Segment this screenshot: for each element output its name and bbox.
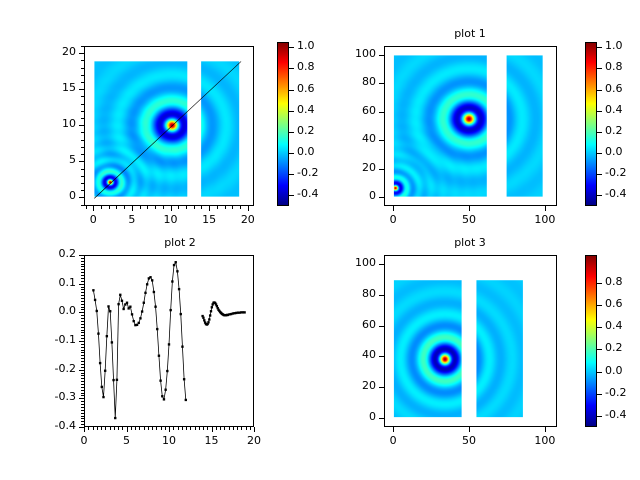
data-point-marker <box>176 270 178 272</box>
colorbar-tick <box>597 195 602 196</box>
data-point-marker <box>154 306 156 308</box>
x-tick-label: 20 <box>223 213 273 226</box>
x-tick-minor <box>229 427 230 430</box>
x-tick-minor <box>169 427 170 430</box>
y-tick-minor <box>81 89 84 90</box>
colorbar-tick <box>597 47 602 48</box>
x-tick-major <box>393 427 394 432</box>
x-tick-label: 0 <box>368 213 418 226</box>
x-tick-minor <box>131 427 132 430</box>
x-tick-minor <box>144 427 145 430</box>
y-tick-major <box>379 356 384 357</box>
y-tick-minor <box>81 352 84 353</box>
x-tick-minor <box>152 427 153 430</box>
y-tick-label: 0 <box>324 189 376 202</box>
y-tick-minor <box>81 344 84 345</box>
x-tick-minor <box>195 427 196 430</box>
y-tick-minor <box>81 384 84 385</box>
data-point-marker <box>102 396 104 398</box>
x-tick-label: 50 <box>444 213 494 226</box>
x-tick-minor <box>190 427 191 430</box>
y-tick-minor <box>81 393 84 394</box>
data-point-marker <box>92 289 94 291</box>
colorbar-bottom-right <box>585 255 597 427</box>
x-tick-minor <box>93 206 94 209</box>
data-point-marker <box>96 310 98 312</box>
data-point-marker <box>112 379 114 381</box>
y-tick-minor <box>81 358 84 359</box>
colorbar-tick <box>597 111 602 112</box>
x-tick-label: 20 <box>229 434 279 447</box>
colorbar-tick <box>289 90 294 91</box>
y-tick-minor <box>81 332 84 333</box>
y-tick-minor <box>81 281 84 282</box>
data-point-marker <box>185 399 187 401</box>
x-tick-minor <box>248 206 249 209</box>
y-tick-minor <box>81 298 84 299</box>
data-point-marker <box>131 313 133 315</box>
y-tick-label: 80 <box>324 287 376 300</box>
x-tick-minor <box>209 206 210 209</box>
line-path <box>93 262 185 418</box>
colorbar-tick-label: 0.8 <box>605 60 623 73</box>
colorbar-tick <box>289 153 294 154</box>
x-tick-label: 0 <box>368 434 418 447</box>
line-series-plot <box>85 256 253 426</box>
y-tick-minor <box>81 350 84 351</box>
y-tick-minor <box>81 304 84 305</box>
y-tick-major <box>379 295 384 296</box>
y-tick-minor <box>81 364 84 365</box>
y-tick-minor <box>81 361 84 362</box>
x-tick-minor <box>250 427 251 430</box>
colorbar-tick-label: -0.4 <box>605 187 626 200</box>
y-tick-minor <box>81 401 84 402</box>
x-tick-minor <box>207 427 208 430</box>
y-tick-minor <box>81 132 84 133</box>
x-tick-minor <box>101 206 102 209</box>
y-tick-label: 0.1 <box>24 276 76 289</box>
data-point-marker <box>122 308 124 310</box>
x-tick-minor <box>224 427 225 430</box>
data-point-marker <box>181 345 183 347</box>
y-tick-minor <box>81 312 84 313</box>
y-tick-minor <box>81 370 84 371</box>
y-tick-label: 60 <box>324 104 376 117</box>
y-tick-minor <box>81 324 84 325</box>
colorbar-tick-label: -0.2 <box>605 386 626 399</box>
x-tick-minor <box>116 206 117 209</box>
y-tick-minor <box>81 410 84 411</box>
data-point-marker <box>111 341 113 343</box>
y-tick-minor <box>81 272 84 273</box>
y-tick-minor <box>81 416 84 417</box>
y-tick-minor <box>81 60 84 61</box>
x-tick-minor <box>217 206 218 209</box>
data-point-marker <box>141 310 143 312</box>
heatmap-image <box>85 47 253 205</box>
y-tick-minor <box>81 318 84 319</box>
x-tick-major <box>545 206 546 211</box>
y-tick-minor <box>81 264 84 265</box>
data-point-marker <box>207 321 209 323</box>
x-tick-minor <box>124 206 125 209</box>
data-point-marker <box>168 343 170 345</box>
y-tick-major <box>379 264 384 265</box>
y-tick-minor <box>81 96 84 97</box>
y-tick-minor <box>81 355 84 356</box>
x-tick-minor <box>203 427 204 430</box>
y-tick-label: 100 <box>324 256 376 269</box>
y-tick-label: -0.3 <box>24 390 76 403</box>
colorbar-tick-label: 0.0 <box>297 145 315 158</box>
data-point-marker <box>156 328 158 330</box>
colorbar-tick <box>597 153 602 154</box>
y-tick-minor <box>81 307 84 308</box>
y-tick-minor <box>81 261 84 262</box>
y-tick-minor <box>81 183 84 184</box>
y-tick-minor <box>81 378 84 379</box>
x-tick-minor <box>122 427 123 430</box>
subplot-top-right-title: plot 1 <box>370 27 570 40</box>
colorbar-tick-label: -0.4 <box>605 408 626 421</box>
data-point-marker <box>94 299 96 301</box>
x-tick-minor <box>86 206 87 209</box>
x-tick-minor <box>163 206 164 209</box>
x-tick-minor <box>173 427 174 430</box>
y-tick-minor <box>81 289 84 290</box>
y-tick-minor <box>81 111 84 112</box>
y-tick-major <box>379 140 384 141</box>
colorbar-tick <box>597 90 602 91</box>
y-tick-label: 0.0 <box>24 304 76 317</box>
x-tick-minor <box>186 206 187 209</box>
y-tick-minor <box>81 118 84 119</box>
y-tick-minor <box>81 275 84 276</box>
colorbar-tick-label: 0.0 <box>605 145 623 158</box>
x-tick-minor <box>237 427 238 430</box>
y-tick-minor <box>81 398 84 399</box>
data-point-marker <box>104 370 106 372</box>
data-point-marker <box>117 303 119 305</box>
colorbar-tick-label: 0.6 <box>605 297 623 310</box>
x-tick-minor <box>147 206 148 209</box>
y-tick-minor <box>81 269 84 270</box>
x-tick-minor <box>88 427 89 430</box>
data-point-marker <box>243 311 245 313</box>
x-tick-minor <box>220 427 221 430</box>
y-tick-minor <box>81 367 84 368</box>
data-point-marker <box>203 319 205 321</box>
y-tick-label: 15 <box>24 81 76 94</box>
heatmap-image <box>385 47 556 205</box>
data-point-marker <box>183 378 185 380</box>
y-tick-minor <box>81 338 84 339</box>
y-tick-minor <box>81 381 84 382</box>
x-tick-minor <box>178 206 179 209</box>
data-point-marker <box>208 318 210 320</box>
colorbar-tick <box>597 132 602 133</box>
x-tick-minor <box>139 427 140 430</box>
colorbar-tick-label: -0.2 <box>297 166 318 179</box>
y-tick-minor <box>81 53 84 54</box>
data-point-marker <box>97 332 99 334</box>
data-point-marker <box>163 398 165 400</box>
colorbar-tick-label: 0.2 <box>297 124 315 137</box>
colorbar-tick-label: 0.4 <box>605 103 623 116</box>
data-point-marker <box>210 310 212 312</box>
y-tick-major <box>379 197 384 198</box>
data-point-marker <box>153 291 155 293</box>
colorbar-tick <box>289 111 294 112</box>
data-point-marker <box>143 302 145 304</box>
x-tick-minor <box>97 427 98 430</box>
data-point-marker <box>138 322 140 324</box>
x-tick-minor <box>127 427 128 430</box>
data-point-marker <box>121 300 123 302</box>
x-tick-minor <box>246 427 247 430</box>
y-tick-label: 0 <box>24 189 76 202</box>
y-tick-minor <box>81 295 84 296</box>
y-tick-minor <box>81 309 84 310</box>
data-point-marker <box>101 386 103 388</box>
colorbar-tick-label: -0.4 <box>297 187 318 200</box>
y-tick-minor <box>81 424 84 425</box>
subplot-bottom-right: plot 3 020406080100050100 0.80.60.40.20.… <box>320 240 640 480</box>
x-tick-minor <box>225 206 226 209</box>
data-point-marker <box>169 309 171 311</box>
x-tick-minor <box>182 427 183 430</box>
y-tick-minor <box>81 82 84 83</box>
data-point-marker <box>178 288 180 290</box>
colorbar-tick-label: 0.8 <box>297 60 315 73</box>
x-tick-minor <box>240 206 241 209</box>
subplot-bottom-right-axes <box>384 255 557 427</box>
data-point-marker <box>106 335 108 337</box>
x-tick-minor <box>171 206 172 209</box>
y-tick-minor <box>81 190 84 191</box>
x-tick-minor <box>241 427 242 430</box>
subplot-top-right-axes <box>384 46 557 206</box>
data-point-marker <box>209 314 211 316</box>
y-tick-major <box>379 387 384 388</box>
x-tick-minor <box>110 427 111 430</box>
x-tick-minor <box>165 427 166 430</box>
y-tick-minor <box>81 335 84 336</box>
data-point-marker <box>139 317 141 319</box>
colorbar-tick-label: 0.4 <box>605 319 623 332</box>
data-point-marker <box>164 389 166 391</box>
colorbar-top-right <box>585 42 597 206</box>
data-point-marker <box>144 292 146 294</box>
y-tick-minor <box>81 375 84 376</box>
x-tick-minor <box>155 206 156 209</box>
x-tick-minor <box>135 427 136 430</box>
data-point-marker <box>126 302 128 304</box>
y-tick-minor <box>81 197 84 198</box>
x-tick-minor <box>212 427 213 430</box>
y-tick-minor <box>81 413 84 414</box>
x-tick-minor <box>114 427 115 430</box>
x-tick-minor <box>101 427 102 430</box>
y-tick-minor <box>81 176 84 177</box>
x-tick-label: 50 <box>444 434 494 447</box>
y-tick-major <box>379 418 384 419</box>
x-tick-minor <box>84 427 85 430</box>
data-point-marker <box>133 320 135 322</box>
colorbar-top-left <box>277 42 289 206</box>
data-point-marker <box>180 313 182 315</box>
y-tick-label: 60 <box>324 318 376 331</box>
data-point-marker <box>129 306 131 308</box>
figure-canvas: 0510152005101520 1.00.80.60.40.20.0-0.2-… <box>0 0 640 480</box>
data-point-marker <box>119 294 121 296</box>
y-tick-label: 20 <box>324 379 376 392</box>
colorbar-tick-label: 0.4 <box>297 103 315 116</box>
y-tick-minor <box>81 68 84 69</box>
colorbar-tick <box>289 68 294 69</box>
x-tick-minor <box>186 427 187 430</box>
colorbar-tick <box>597 394 602 395</box>
x-tick-minor <box>232 206 233 209</box>
x-tick-major <box>545 427 546 432</box>
colorbar-tick <box>597 283 602 284</box>
y-tick-minor <box>81 387 84 388</box>
data-point-marker <box>99 362 101 364</box>
y-tick-label: -0.2 <box>24 362 76 375</box>
colorbar-tick-label: 1.0 <box>297 39 315 52</box>
x-tick-minor <box>118 427 119 430</box>
colorbar-tick-label: 0.8 <box>605 275 623 288</box>
y-tick-minor <box>81 75 84 76</box>
subplot-top-right: plot 1 020406080100050100 1.00.80.60.40.… <box>320 0 640 240</box>
y-tick-minor <box>81 390 84 391</box>
x-tick-minor <box>109 206 110 209</box>
y-tick-minor <box>81 421 84 422</box>
y-tick-minor <box>81 147 84 148</box>
colorbar-tick-label: 0.2 <box>605 341 623 354</box>
y-tick-minor <box>81 258 84 259</box>
y-tick-minor <box>81 284 84 285</box>
y-tick-label: -0.1 <box>24 333 76 346</box>
data-point-marker <box>202 317 204 319</box>
colorbar-tick <box>597 372 602 373</box>
colorbar-tick <box>289 174 294 175</box>
x-tick-minor <box>140 206 141 209</box>
colorbar-tick <box>597 174 602 175</box>
y-tick-minor <box>81 341 84 342</box>
data-point-marker <box>151 279 153 281</box>
colorbar-tick <box>289 195 294 196</box>
colorbar-tick <box>597 68 602 69</box>
x-tick-minor <box>148 427 149 430</box>
y-tick-minor <box>81 255 84 256</box>
x-tick-minor <box>93 427 94 430</box>
y-tick-major <box>379 55 384 56</box>
x-tick-minor <box>161 427 162 430</box>
y-tick-major <box>379 326 384 327</box>
y-tick-minor <box>81 407 84 408</box>
colorbar-tick-label: 1.0 <box>605 39 623 52</box>
y-tick-label: 20 <box>24 45 76 58</box>
y-tick-minor <box>81 278 84 279</box>
data-point-marker <box>159 379 161 381</box>
y-tick-minor <box>81 327 84 328</box>
x-tick-minor <box>194 206 195 209</box>
data-point-marker <box>171 280 173 282</box>
x-tick-major <box>469 427 470 432</box>
data-point-marker <box>173 264 175 266</box>
y-tick-minor <box>81 315 84 316</box>
colorbar-tick-label: 0.0 <box>605 364 623 377</box>
y-tick-minor <box>81 321 84 322</box>
y-tick-major <box>379 169 384 170</box>
y-tick-minor <box>81 266 84 267</box>
y-tick-label: 80 <box>324 75 376 88</box>
colorbar-tick-label: -0.2 <box>605 166 626 179</box>
y-tick-label: 0 <box>324 410 376 423</box>
x-tick-minor <box>254 427 255 430</box>
data-point-marker <box>109 310 111 312</box>
y-tick-label: 5 <box>24 153 76 166</box>
y-tick-label: 20 <box>324 161 376 174</box>
y-tick-minor <box>81 418 84 419</box>
y-tick-major <box>379 83 384 84</box>
x-tick-minor <box>216 427 217 430</box>
x-tick-minor <box>233 427 234 430</box>
subplot-top-left-axes <box>84 46 254 206</box>
y-tick-label: 0.2 <box>24 247 76 260</box>
subplot-bottom-left-axes <box>84 255 254 427</box>
y-tick-minor <box>81 287 84 288</box>
subplot-top-left: 0510152005101520 1.00.80.60.40.20.0-0.2-… <box>0 0 320 240</box>
data-point-marker <box>114 417 116 419</box>
data-point-marker <box>116 379 118 381</box>
data-point-marker <box>161 395 163 397</box>
colorbar-tick <box>597 416 602 417</box>
y-tick-label: 40 <box>324 132 376 145</box>
data-point-marker <box>107 305 109 307</box>
y-tick-minor <box>81 373 84 374</box>
subplot-bottom-left: plot 2 0.20.10.0-0.1-0.2-0.3-0.405101520 <box>0 240 320 480</box>
colorbar-tick <box>597 327 602 328</box>
x-tick-minor <box>201 206 202 209</box>
heatmap-image <box>385 256 556 426</box>
y-tick-minor <box>81 46 84 47</box>
y-tick-minor <box>81 347 84 348</box>
y-tick-minor <box>81 161 84 162</box>
colorbar-tick <box>597 305 602 306</box>
y-tick-minor <box>81 395 84 396</box>
x-tick-minor <box>178 427 179 430</box>
data-point-marker <box>175 261 177 263</box>
y-tick-label: 100 <box>324 47 376 60</box>
colorbar-tick <box>289 132 294 133</box>
y-tick-minor <box>81 292 84 293</box>
x-tick-minor <box>199 427 200 430</box>
y-tick-minor <box>81 140 84 141</box>
colorbar-tick-label: 0.6 <box>605 82 623 95</box>
data-point-marker <box>146 283 148 285</box>
y-tick-major <box>379 112 384 113</box>
x-tick-minor <box>156 427 157 430</box>
data-point-marker <box>149 276 151 278</box>
colorbar-tick <box>289 47 294 48</box>
y-tick-minor <box>81 404 84 405</box>
y-tick-label: 40 <box>324 348 376 361</box>
data-point-marker <box>211 306 213 308</box>
y-tick-minor <box>81 169 84 170</box>
